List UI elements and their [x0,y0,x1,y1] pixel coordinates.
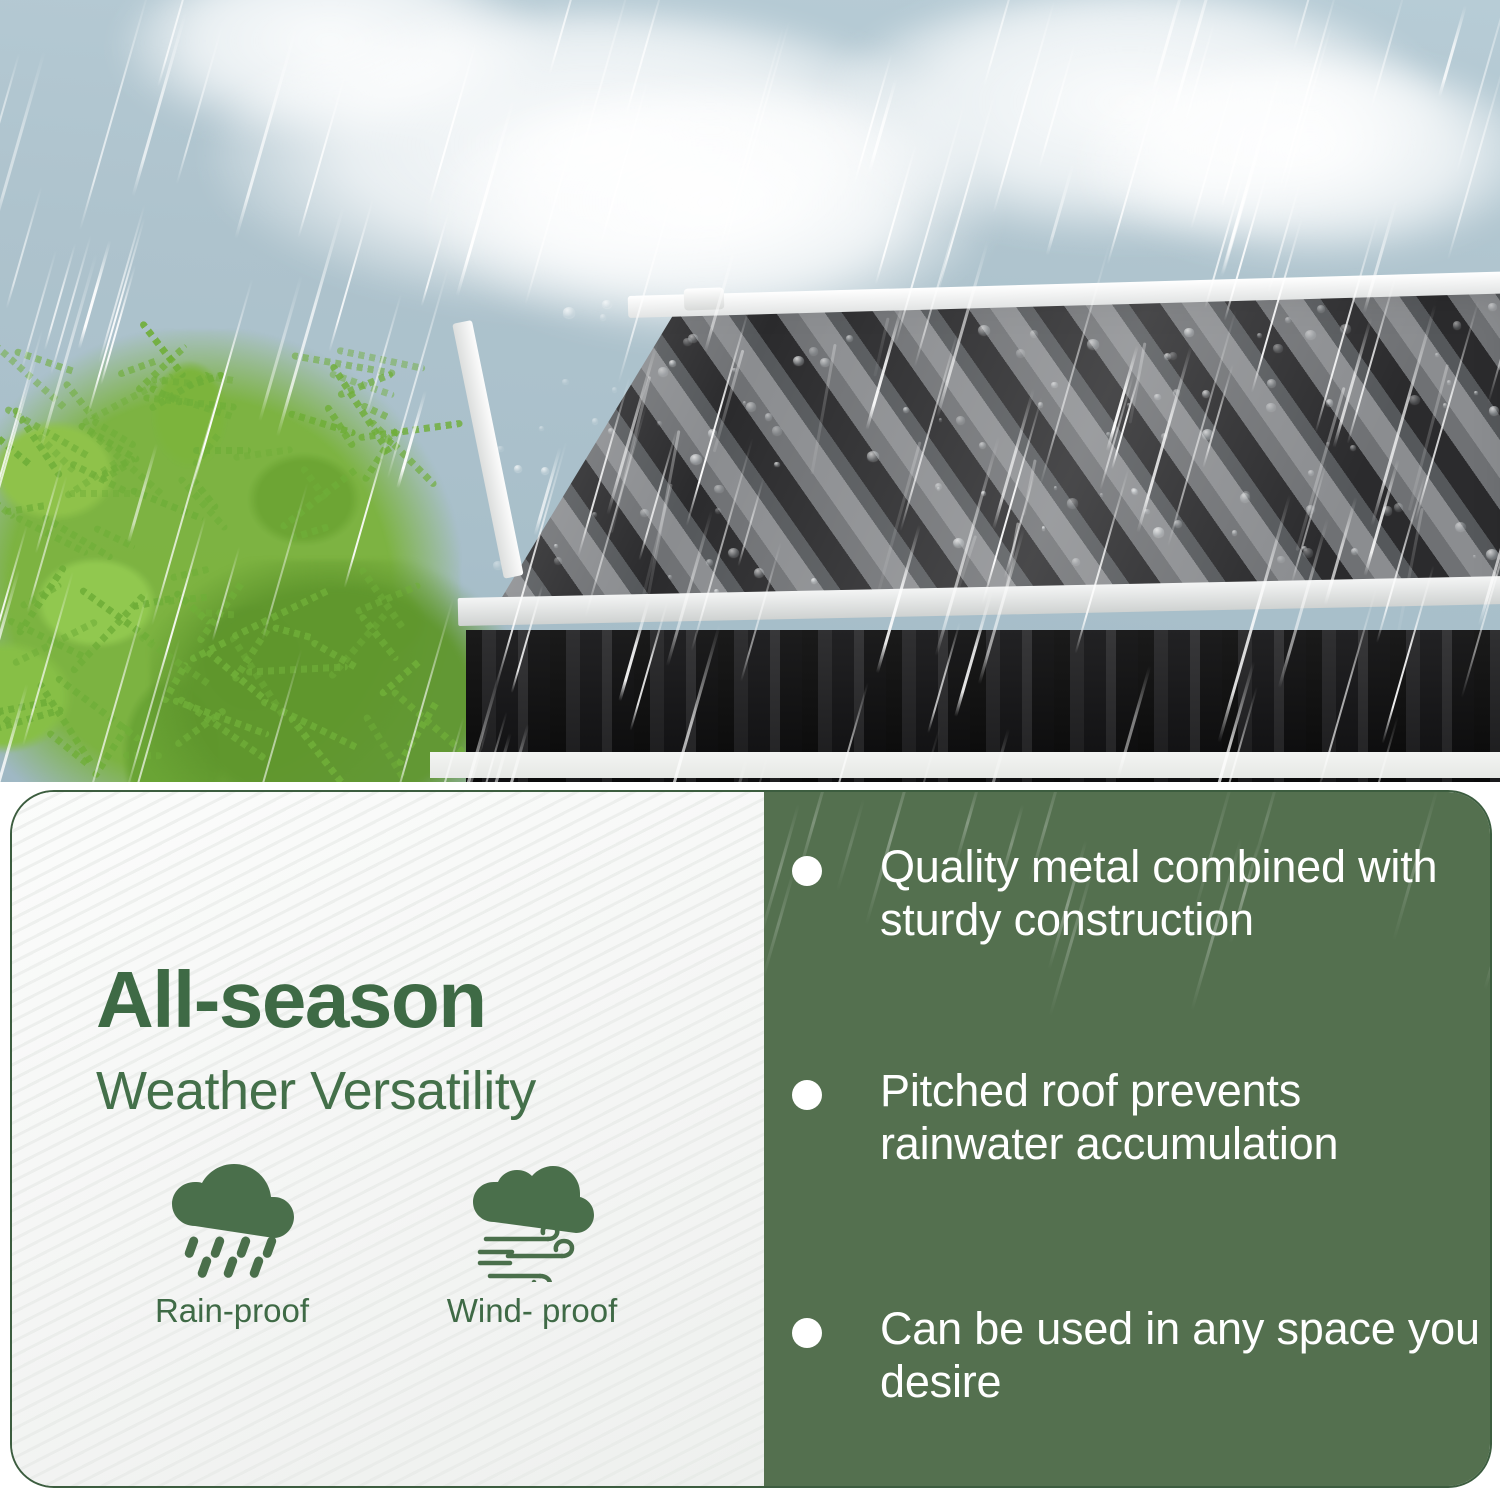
water-droplet [939,418,942,421]
rain-streak [0,53,20,160]
water-droplet [1317,305,1325,312]
water-droplet [1340,324,1350,333]
feature-card: All-season Weather Versatility [10,790,1492,1488]
left-panel: All-season Weather Versatility [12,792,764,1486]
water-droplet [1153,527,1164,536]
shed-roof [400,268,1500,658]
rain-streak [6,186,43,309]
water-droplet [1174,520,1182,527]
water-droplet [1266,403,1276,411]
water-droplet [728,548,739,557]
list-item: Pitched roof prevents rainwater accumula… [792,1064,1492,1170]
water-droplet [1087,339,1098,349]
water-droplet [514,465,522,472]
water-droplet [658,367,668,375]
water-droplet [809,347,818,355]
feature-label: Rain-proof [155,1292,309,1330]
water-droplet [1273,344,1283,352]
water-droplet [1173,389,1180,395]
water-droplet [1350,445,1356,450]
water-droplet [1161,433,1168,439]
water-droplet [1383,506,1393,514]
feature-icon-row: Rain-proof [82,1162,702,1330]
bullet-dot-icon [792,1080,822,1110]
product-feature-infographic: All-season Weather Versatility [0,0,1500,1500]
water-droplet [1042,526,1046,529]
page-subtitle: Weather Versatility [96,1064,536,1118]
water-droplet [715,508,721,513]
water-droplet [1202,390,1210,397]
water-droplet [668,575,671,578]
list-item-label: Quality metal combined with sturdy const… [880,840,1492,946]
water-droplet [708,429,717,437]
water-droplet [612,387,617,392]
roof-ridge-cap [684,287,725,310]
water-droplet [1054,486,1057,489]
water-droplet [563,307,575,317]
bullet-dot-icon [792,1318,822,1348]
water-droplet [1474,391,1477,394]
benefit-list: Quality metal combined with sturdy const… [764,792,1490,1486]
water-droplet [1184,328,1193,336]
water-droplet [774,462,779,467]
page-title: All-season [96,960,486,1040]
water-droplet [1277,556,1284,562]
feature-wind-proof: Wind- proof [382,1162,682,1330]
list-item-label: Pitched roof prevents rainwater accumula… [880,1064,1492,1170]
water-droplet [592,418,598,424]
bullet-dot-icon [792,856,822,886]
water-droplet [793,356,804,365]
water-droplet [600,314,606,319]
water-droplet [746,402,756,411]
feature-label: Wind- proof [447,1292,618,1330]
water-droplet [539,426,544,430]
water-droplet [714,485,723,493]
water-droplet [1308,470,1314,475]
water-droplet [953,538,964,547]
rain-streak [0,51,46,231]
water-droplet [1072,558,1080,565]
water-droplet [1455,522,1466,531]
water-droplet [1067,498,1078,508]
water-droplet [669,360,676,366]
water-droplet [1202,429,1213,438]
list-item: Quality metal combined with sturdy const… [792,840,1492,946]
water-droplet [1326,399,1334,406]
wind-cloud-icon [452,1162,612,1282]
roof-trim-left [452,320,523,579]
water-droplet [978,325,990,335]
water-droplet [602,300,612,308]
water-droplet [1016,349,1026,357]
product-photo [0,0,1500,782]
water-droplet [1100,493,1103,496]
rain-cloud-icon [157,1162,307,1282]
water-droplet [772,426,783,435]
water-droplet [1232,530,1237,534]
water-droplet [903,407,909,412]
water-droplet [1305,330,1316,339]
water-droplet [657,421,662,425]
leaf-frond [123,752,162,760]
water-droplet [754,568,764,577]
water-droplet [765,413,773,420]
list-item-label: Can be used in any space you desire [880,1302,1492,1408]
shed-base-trim [430,752,1500,778]
right-panel: Quality metal combined with sturdy const… [764,792,1490,1486]
water-droplet [562,379,568,384]
water-droplet [1453,321,1462,328]
water-droplet [867,451,878,461]
water-droplet [1144,509,1150,514]
feature-rain-proof: Rain-proof [82,1162,382,1330]
list-item: Can be used in any space you desire [792,1302,1492,1408]
water-droplet [690,454,702,464]
water-droplet [541,467,550,474]
water-droplet [1409,395,1420,404]
water-droplet [1127,403,1131,406]
water-droplet [820,358,830,367]
